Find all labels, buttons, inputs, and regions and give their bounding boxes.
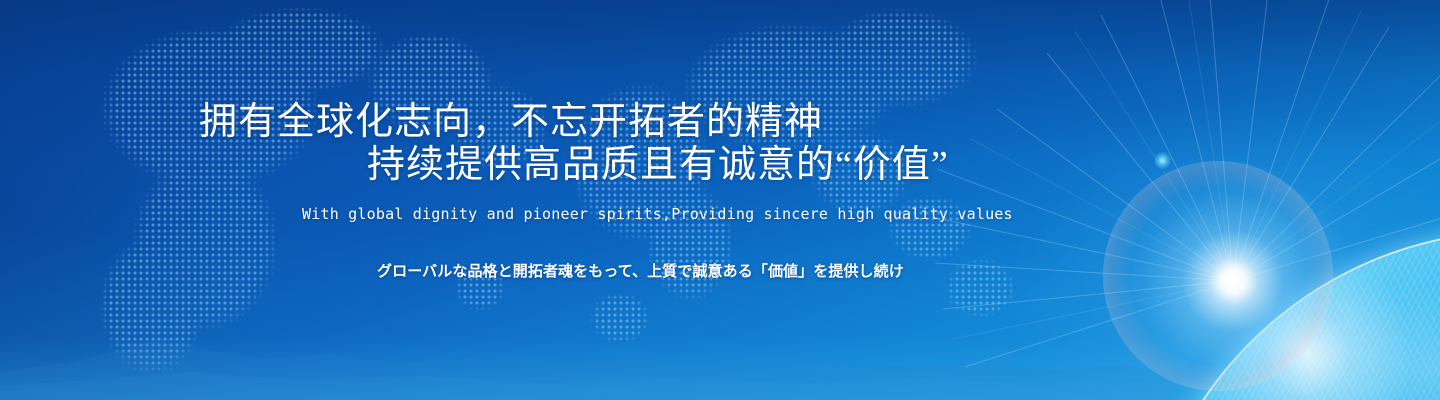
- headline-text-block: 拥有全球化志向，不忘开拓者的精神 持续提供高品质且有诚意的“价值” With g…: [0, 0, 1440, 400]
- headline-chinese-line-2: 持续提供高品质且有诚意的“价值”: [367, 133, 949, 188]
- subtitle-japanese: グローバルな品格と開拓者魂をもって、上質で誠意ある「価値」を提供し続け: [377, 260, 904, 281]
- subtitle-english: With global dignity and pioneer spirits,…: [302, 205, 1013, 223]
- hero-banner: 拥有全球化志向，不忘开拓者的精神 持续提供高品质且有诚意的“价值” With g…: [0, 0, 1440, 400]
